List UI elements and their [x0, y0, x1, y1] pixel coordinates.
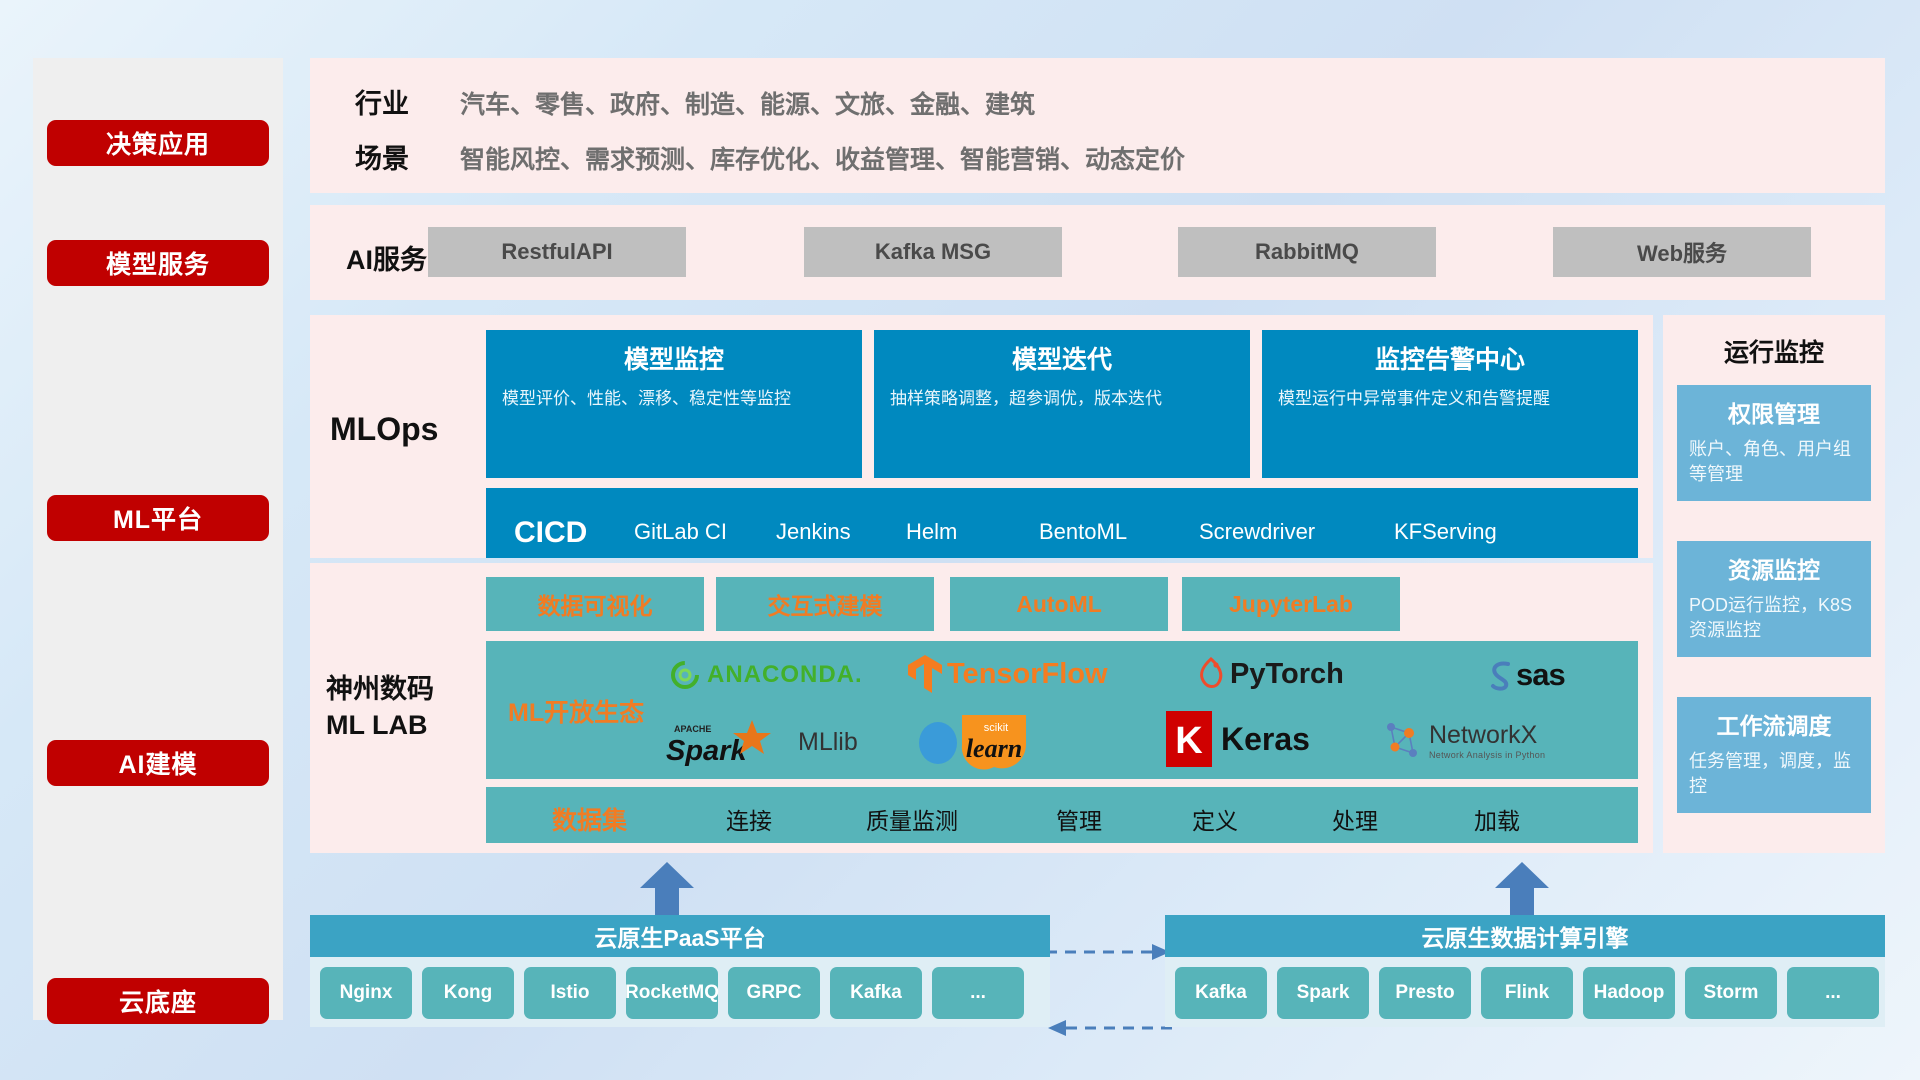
card-title: 模型迭代	[890, 344, 1234, 377]
monitor-card-permission[interactable]: 权限管理 账户、角色、用户组等管理	[1677, 385, 1871, 501]
paas-chip-grpc[interactable]: GRPC	[728, 967, 820, 1019]
rail-item-decision-app[interactable]: 决策应用	[47, 120, 269, 166]
compute-chip-flink[interactable]: Flink	[1481, 967, 1573, 1019]
mlops-band: MLOps 模型监控 模型评价、性能、漂移、稳定性等监控 模型迭代 抽样策略调整…	[310, 315, 1653, 558]
cicd-item-screwdriver[interactable]: Screwdriver	[1199, 518, 1303, 546]
cicd-item-kfserving[interactable]: KFServing	[1394, 518, 1498, 546]
svg-text:K: K	[1175, 720, 1203, 762]
rail-item-ai-modeling[interactable]: AI建模	[47, 740, 269, 786]
anaconda-logo: ANACONDA.	[668, 647, 863, 703]
tool-chip-data-visualization[interactable]: 数据可视化	[486, 577, 704, 631]
sas-wordmark: sas	[1516, 657, 1565, 693]
dataset-item-connect[interactable]: 连接	[726, 802, 772, 836]
card-desc: 模型运行中异常事件定义和告警提醒	[1278, 387, 1622, 412]
mllib-wordmark: MLlib	[798, 728, 858, 757]
tensorflow-logo: TensorFlow	[906, 645, 1108, 703]
paas-chip-istio[interactable]: Istio	[524, 967, 616, 1019]
pytorch-wordmark: PyTorch	[1230, 658, 1344, 691]
bidirectional-link	[1044, 940, 1174, 1055]
paas-chip-kafka[interactable]: Kafka	[830, 967, 922, 1019]
svg-text:Spark: Spark	[666, 735, 748, 767]
rail-item-ml-platform[interactable]: ML平台	[47, 495, 269, 541]
compute-engine-block: 云原生数据计算引擎 Kafka Spark Presto Flink Hadoo…	[1165, 915, 1885, 1027]
mlops-card-model-monitor[interactable]: 模型监控 模型评价、性能、漂移、稳定性等监控	[486, 330, 862, 478]
card-title: 监控告警中心	[1278, 344, 1622, 377]
keras-logo: K Keras	[1166, 709, 1310, 769]
service-chip-rabbitmq[interactable]: RabbitMQ	[1178, 227, 1436, 277]
ml-lab-label-line1: 神州数码	[326, 671, 434, 707]
pytorch-logo: PyTorch	[1196, 645, 1344, 703]
service-chip-restfulapi[interactable]: RestfulAPI	[428, 227, 686, 277]
card-title: 模型监控	[502, 344, 846, 377]
dataset-label: 数据集	[552, 801, 627, 837]
tensorflow-mark-icon	[906, 653, 944, 695]
ai-service-band: AI服务 RestfulAPI Kafka MSG RabbitMQ Web服务	[310, 205, 1885, 300]
scikit-learn-wordmark: learn	[966, 734, 1022, 763]
networkx-tagline: Network Analysis in Python	[1429, 750, 1545, 760]
anaconda-wordmark: ANACONDA.	[707, 661, 863, 689]
pytorch-mark-icon	[1196, 655, 1226, 693]
card-title: 工作流调度	[1689, 707, 1859, 741]
service-chip-kafka-msg[interactable]: Kafka MSG	[804, 227, 1062, 277]
dataset-item-define[interactable]: 定义	[1192, 802, 1238, 836]
anaconda-mark-icon	[668, 658, 702, 692]
tool-chip-jupyterlab[interactable]: JupyterLab	[1182, 577, 1400, 631]
mlops-card-model-iteration[interactable]: 模型迭代 抽样策略调整，超参调优，版本迭代	[874, 330, 1250, 478]
rail-item-model-service[interactable]: 模型服务	[47, 240, 269, 286]
compute-chip-presto[interactable]: Presto	[1379, 967, 1471, 1019]
application-band: 行业 汽车、零售、政府、制造、能源、文旅、金融、建筑 场景 智能风控、需求预测、…	[310, 58, 1885, 193]
compute-engine-title: 云原生数据计算引擎	[1165, 915, 1885, 957]
sas-logo: sas	[1486, 647, 1565, 703]
card-title: 资源监控	[1689, 551, 1859, 585]
architecture-diagram: 决策应用 模型服务 ML平台 AI建模 云底座 行业 汽车、零售、政府、制造、能…	[0, 0, 1920, 1080]
monitor-card-workflow[interactable]: 工作流调度 任务管理，调度，监控	[1677, 697, 1871, 813]
compute-chip-hadoop[interactable]: Hadoop	[1583, 967, 1675, 1019]
dataset-item-manage[interactable]: 管理	[1056, 802, 1102, 836]
card-desc: 账户、角色、用户组等管理	[1689, 437, 1859, 487]
service-chip-web-service[interactable]: Web服务	[1553, 227, 1811, 277]
compute-chip-storm[interactable]: Storm	[1685, 967, 1777, 1019]
up-arrow-compute	[1495, 862, 1549, 923]
cicd-bar: CICD GitLab CI Jenkins Helm BentoML Scre…	[486, 488, 1638, 558]
dataset-item-process[interactable]: 处理	[1332, 802, 1378, 836]
card-desc: 任务管理，调度，监控	[1689, 749, 1859, 799]
compute-chip-more[interactable]: ...	[1787, 967, 1879, 1019]
cicd-label: CICD	[514, 516, 587, 550]
paas-chip-more[interactable]: ...	[932, 967, 1024, 1019]
ml-ecosystem-panel: ML开放生态 ANACONDA. TensorFlow	[486, 641, 1638, 779]
ml-ecosystem-label: ML开放生态	[508, 693, 644, 729]
networkx-logo: NetworkX Network Analysis in Python	[1381, 711, 1545, 769]
tool-chip-automl[interactable]: AutoML	[950, 577, 1168, 631]
svg-text:APACHE: APACHE	[674, 724, 711, 734]
mlops-card-alert-center[interactable]: 监控告警中心 模型运行中异常事件定义和告警提醒	[1262, 330, 1638, 478]
dataset-bar: 数据集 连接 质量监测 管理 定义 处理 加载	[486, 787, 1638, 843]
sas-mark-icon	[1486, 658, 1516, 692]
ml-lab-label-line2: ML LAB	[326, 707, 434, 743]
networkx-wordmark: NetworkX	[1429, 721, 1545, 750]
mlops-label: MLOps	[330, 411, 438, 448]
paas-chip-kong[interactable]: Kong	[422, 967, 514, 1019]
networkx-mark-icon	[1381, 717, 1425, 763]
layer-rail: 决策应用 模型服务 ML平台 AI建模 云底座	[33, 58, 283, 1020]
keras-wordmark: Keras	[1221, 721, 1310, 758]
tool-chip-interactive-modeling[interactable]: 交互式建模	[716, 577, 934, 631]
card-desc: 抽样策略调整，超参调优，版本迭代	[890, 387, 1234, 412]
spark-mark-icon: APACHE Spark	[664, 716, 792, 768]
ai-modeling-band: 神州数码 ML LAB 数据可视化 交互式建模 AutoML JupyterLa…	[310, 563, 1653, 853]
card-desc: POD运行监控，K8S资源监控	[1689, 593, 1859, 643]
monitor-card-resource[interactable]: 资源监控 POD运行监控，K8S资源监控	[1677, 541, 1871, 657]
scene-value: 智能风控、需求预测、库存优化、收益管理、智能营销、动态定价	[460, 140, 1185, 176]
compute-chip-spark[interactable]: Spark	[1277, 967, 1369, 1019]
ai-service-label: AI服务	[346, 238, 427, 277]
scikit-learn-mark-icon: scikit learn	[916, 711, 1056, 771]
compute-chip-kafka[interactable]: Kafka	[1175, 967, 1267, 1019]
scene-key: 场景	[355, 137, 409, 176]
paas-chip-rocketmq[interactable]: RocketMQ	[626, 967, 718, 1019]
paas-block: 云原生PaaS平台 Nginx Kong Istio RocketMQ GRPC…	[310, 915, 1050, 1027]
industry-key: 行业	[355, 82, 409, 121]
cicd-item-helm[interactable]: Helm	[906, 518, 1010, 546]
cicd-item-gitlab-ci[interactable]: GitLab CI	[634, 518, 738, 546]
ml-lab-label: 神州数码 ML LAB	[326, 671, 434, 744]
cicd-item-jenkins[interactable]: Jenkins	[776, 518, 880, 546]
spark-mllib-logo: APACHE Spark MLlib	[664, 713, 858, 771]
cicd-item-bentoml[interactable]: BentoML	[1039, 518, 1143, 546]
card-desc: 模型评价、性能、漂移、稳定性等监控	[502, 387, 846, 412]
svg-text:scikit: scikit	[984, 722, 1008, 734]
runtime-monitor-panel: 运行监控 权限管理 账户、角色、用户组等管理 资源监控 POD运行监控，K8S资…	[1663, 315, 1885, 853]
keras-mark-icon: K	[1166, 711, 1212, 767]
industry-value: 汽车、零售、政府、制造、能源、文旅、金融、建筑	[460, 85, 1035, 121]
tensorflow-wordmark: TensorFlow	[947, 658, 1108, 691]
runtime-monitor-title: 运行监控	[1663, 333, 1885, 369]
scikit-learn-logo: scikit learn	[916, 711, 1056, 771]
card-title: 权限管理	[1689, 395, 1859, 429]
dataset-item-quality[interactable]: 质量监测	[866, 802, 958, 836]
paas-chip-nginx[interactable]: Nginx	[320, 967, 412, 1019]
up-arrow-paas	[640, 862, 694, 923]
dataset-item-load[interactable]: 加载	[1474, 802, 1520, 836]
paas-title: 云原生PaaS平台	[310, 915, 1050, 957]
rail-item-cloud-base[interactable]: 云底座	[47, 978, 269, 1024]
